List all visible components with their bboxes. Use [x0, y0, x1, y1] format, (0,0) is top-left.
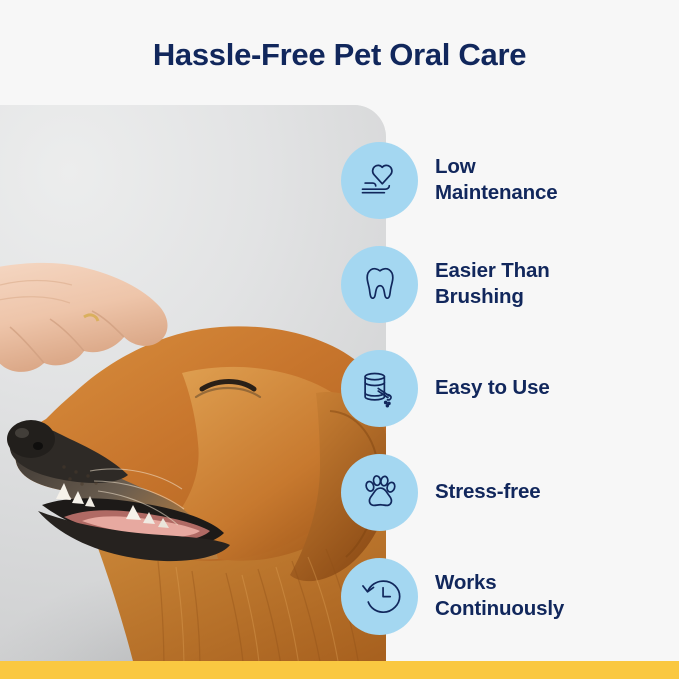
tooth-icon — [341, 246, 418, 323]
heart-in-hand-icon — [341, 142, 418, 219]
clock-arrow-icon — [341, 558, 418, 635]
feature-label: Easier Than Brushing — [435, 258, 550, 310]
product-photo — [0, 105, 386, 661]
feature-item-easier-than-brushing: Easier Than Brushing — [341, 245, 679, 323]
jar-with-scoop-icon — [341, 350, 418, 427]
feature-item-easy-to-use: Easy to Use — [341, 349, 679, 427]
feature-label: Easy to Use — [435, 375, 550, 401]
feature-label: Stress-free — [435, 479, 540, 505]
promo-graphic: Hassle-Free Pet Oral Care — [0, 0, 679, 679]
page-title: Hassle-Free Pet Oral Care — [0, 36, 679, 73]
paw-print-icon — [341, 454, 418, 531]
feature-item-low-maintenance: Low Maintenance — [341, 141, 679, 219]
feature-item-works-continuously: Works Continuously — [341, 557, 679, 635]
feature-label: Works Continuously — [435, 570, 564, 622]
feature-label: Low Maintenance — [435, 154, 558, 206]
feature-item-stress-free: Stress-free — [341, 453, 679, 531]
bottom-accent-bar — [0, 661, 679, 679]
human-hand — [0, 223, 264, 383]
